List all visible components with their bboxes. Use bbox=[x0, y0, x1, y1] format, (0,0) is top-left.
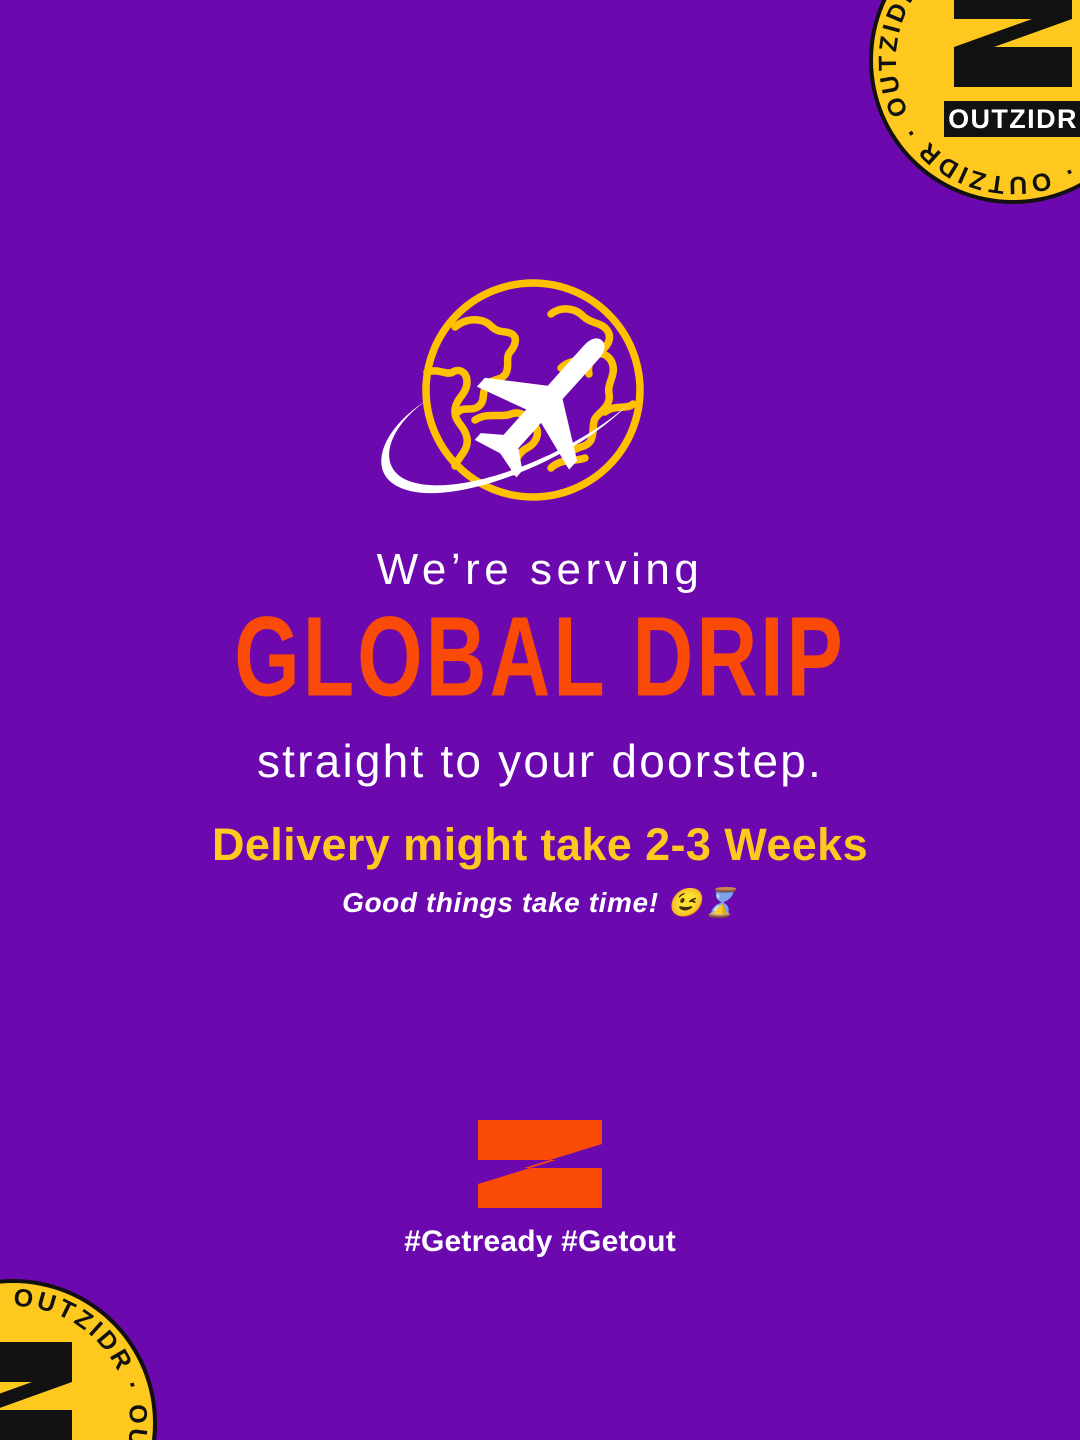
delivery-notice-block: Delivery might take 2-3 Weeks Good thing… bbox=[0, 822, 1080, 917]
outzidr-seal-top-right: OUTZIDR · OUTZIDR · OUTZIDR · OUTZIDR · … bbox=[868, 0, 1080, 205]
poster-canvas: OUTZIDR · OUTZIDR · OUTZIDR · OUTZIDR · … bbox=[0, 0, 1080, 1440]
delivery-headline: Delivery might take 2-3 Weeks bbox=[0, 822, 1080, 867]
globe-airplane-icon bbox=[355, 272, 715, 517]
seal-wordmark-block: OUTZIDR bbox=[944, 101, 1080, 137]
footer-block: #Getready #Getout bbox=[0, 1120, 1080, 1257]
hashtags-text: #Getready #Getout bbox=[0, 1227, 1080, 1257]
headline-text: GLOBAL DRIP bbox=[234, 600, 845, 714]
eyebrow-text: We’re serving bbox=[0, 548, 1080, 592]
subline-text: straight to your doorstep. bbox=[0, 738, 1080, 784]
main-copy-block: We’re serving GLOBAL DRIP straight to yo… bbox=[0, 548, 1080, 784]
delivery-note: Good things take time! 😉⌛ bbox=[0, 889, 1080, 917]
headline: GLOBAL DRIP bbox=[0, 614, 1080, 700]
seal-wordmark: OUTZIDR bbox=[948, 104, 1078, 134]
z-logo-mark bbox=[478, 1120, 602, 1208]
outzidr-seal-bottom-left: OUTZIDR · OUTZIDR · OUTZIDR · OUTZIDR · … bbox=[0, 1278, 158, 1440]
